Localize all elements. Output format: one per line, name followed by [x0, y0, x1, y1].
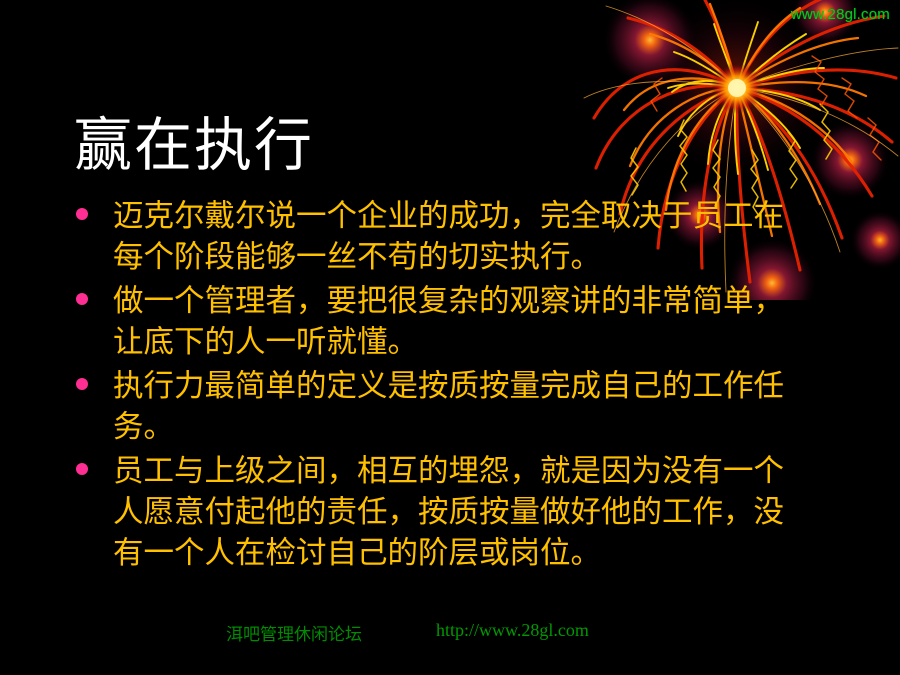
firework-halo	[642, 0, 832, 183]
presentation-slide: www.28gl.com 赢在执行 迈克尔戴尔说一个企业的成功，完全取决于员工在…	[0, 0, 900, 675]
bullet-list: 迈克尔戴尔说一个企业的成功，完全取决于员工在每个阶段能够一丝不苟的切实执行。 做…	[70, 196, 830, 577]
list-item: 执行力最简单的定义是按质按量完成自己的工作任务。	[70, 366, 830, 448]
list-item-label: 迈克尔戴尔说一个企业的成功，完全取决于员工在每个阶段能够一丝不苟的切实执行。	[113, 196, 813, 278]
bullet-dot-icon	[76, 293, 88, 305]
list-item-label: 员工与上级之间，相互的埋怨，就是因为没有一个人愿意付起他的责任，按质按量做好他的…	[113, 451, 813, 574]
footer-url-link[interactable]: http://www.28gl.com	[436, 620, 589, 641]
firework-core	[711, 62, 763, 114]
list-item-label: 做一个管理者，要把很复杂的观察讲的非常简单，让底下的人一听就懂。	[113, 281, 813, 363]
list-item: 迈克尔戴尔说一个企业的成功，完全取决于员工在每个阶段能够一丝不苟的切实执行。	[70, 196, 830, 278]
list-item: 做一个管理者，要把很复杂的观察讲的非常简单，让底下的人一听就懂。	[70, 281, 830, 363]
bullet-dot-icon	[76, 208, 88, 220]
slide-footer: 洱吧管理休闲论坛 http://www.28gl.com	[0, 620, 900, 648]
slide-title: 赢在执行	[74, 115, 314, 176]
watermark-url: www.28gl.com	[791, 6, 890, 23]
bullet-dot-icon	[76, 463, 88, 475]
list-item: 员工与上级之间，相互的埋怨，就是因为没有一个人愿意付起他的责任，按质按量做好他的…	[70, 451, 830, 574]
firework-core-hot	[728, 79, 746, 97]
list-item-label: 执行力最简单的定义是按质按量完成自己的工作任务。	[113, 366, 813, 448]
footer-forum-name: 洱吧管理休闲论坛	[226, 620, 362, 645]
bullet-dot-icon	[76, 378, 88, 390]
